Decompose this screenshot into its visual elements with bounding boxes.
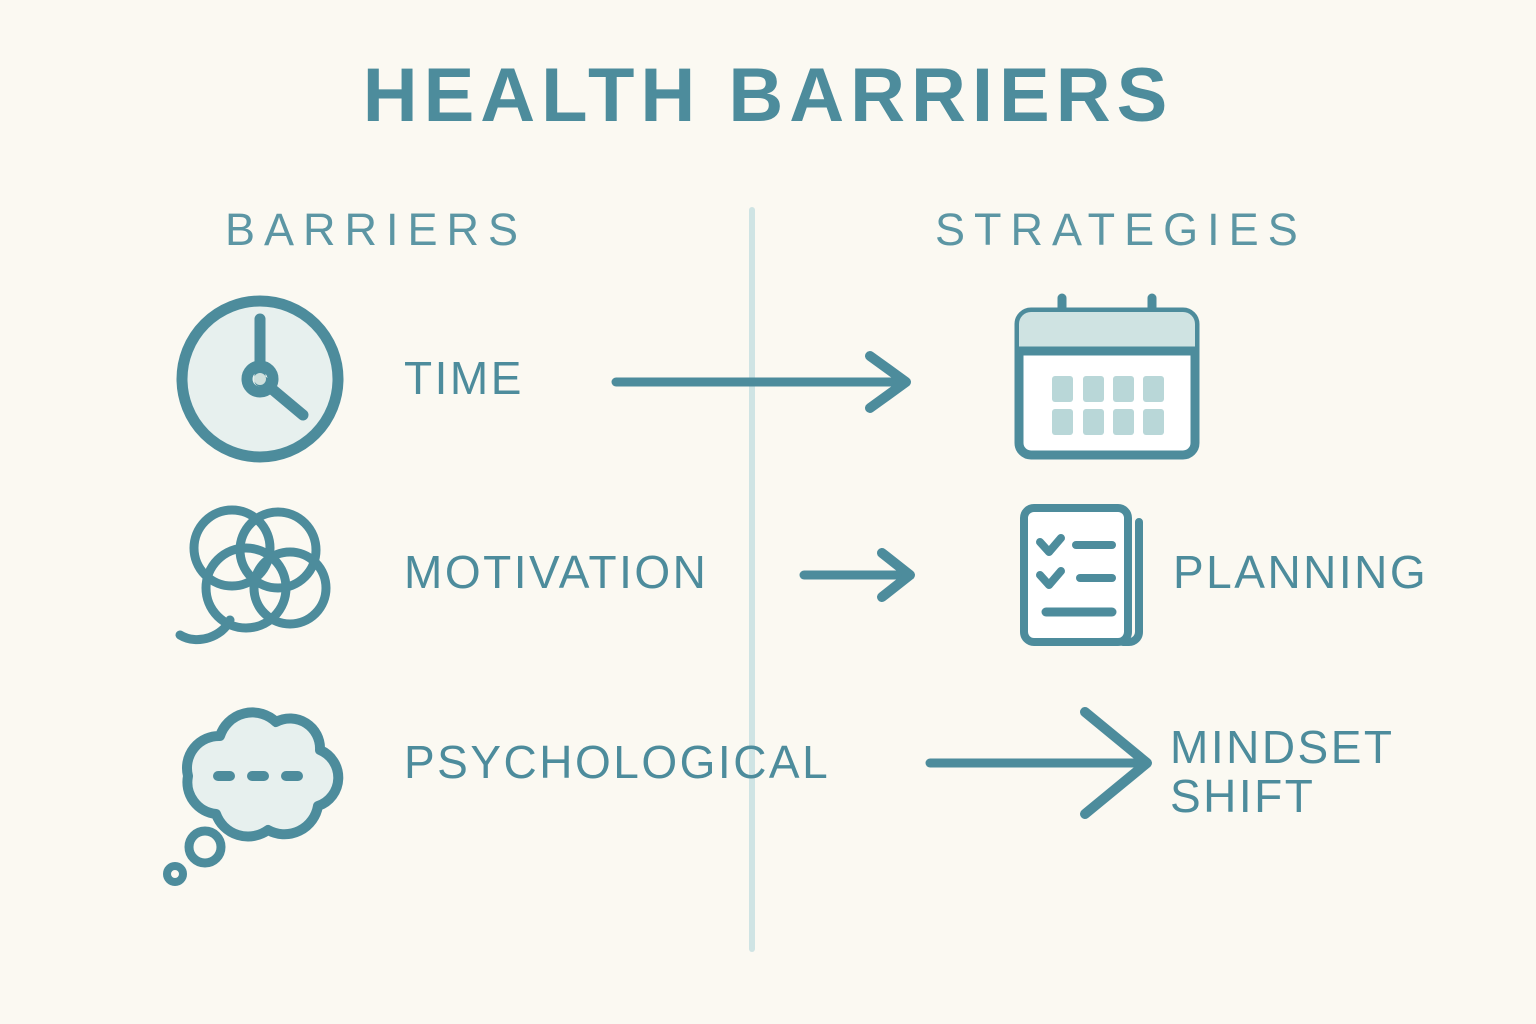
column-header-barriers: BARRIERS — [225, 207, 527, 252]
clipboard-checklist-icon — [1014, 500, 1164, 650]
arrow-right-short-icon — [800, 547, 925, 603]
mindset-line-1: MINDSET — [1170, 721, 1395, 773]
infographic-canvas: HEALTH BARRIERS BARRIERS STRATEGIES TIME — [0, 0, 1536, 1024]
tangle-icon — [168, 500, 348, 650]
thought-bubble-icon — [158, 684, 358, 884]
barrier-label-psychological: PSYCHOLOGICAL — [404, 738, 830, 787]
barrier-label-motivation: MOTIVATION — [404, 548, 708, 597]
arrow-right-long-icon — [612, 352, 922, 412]
page-title: HEALTH BARRIERS — [0, 58, 1536, 134]
clock-icon — [172, 291, 348, 467]
arrow-right-large-icon — [925, 706, 1165, 821]
column-header-strategies: STRATEGIES — [935, 207, 1307, 252]
strategy-label-mindset-shift: MINDSET SHIFT — [1170, 723, 1470, 821]
vertical-divider — [749, 207, 755, 952]
strategy-label-planning: PLANNING — [1173, 548, 1428, 597]
calendar-icon — [1012, 292, 1202, 462]
barrier-label-time: TIME — [404, 354, 524, 403]
mindset-line-2: SHIFT — [1170, 770, 1315, 822]
